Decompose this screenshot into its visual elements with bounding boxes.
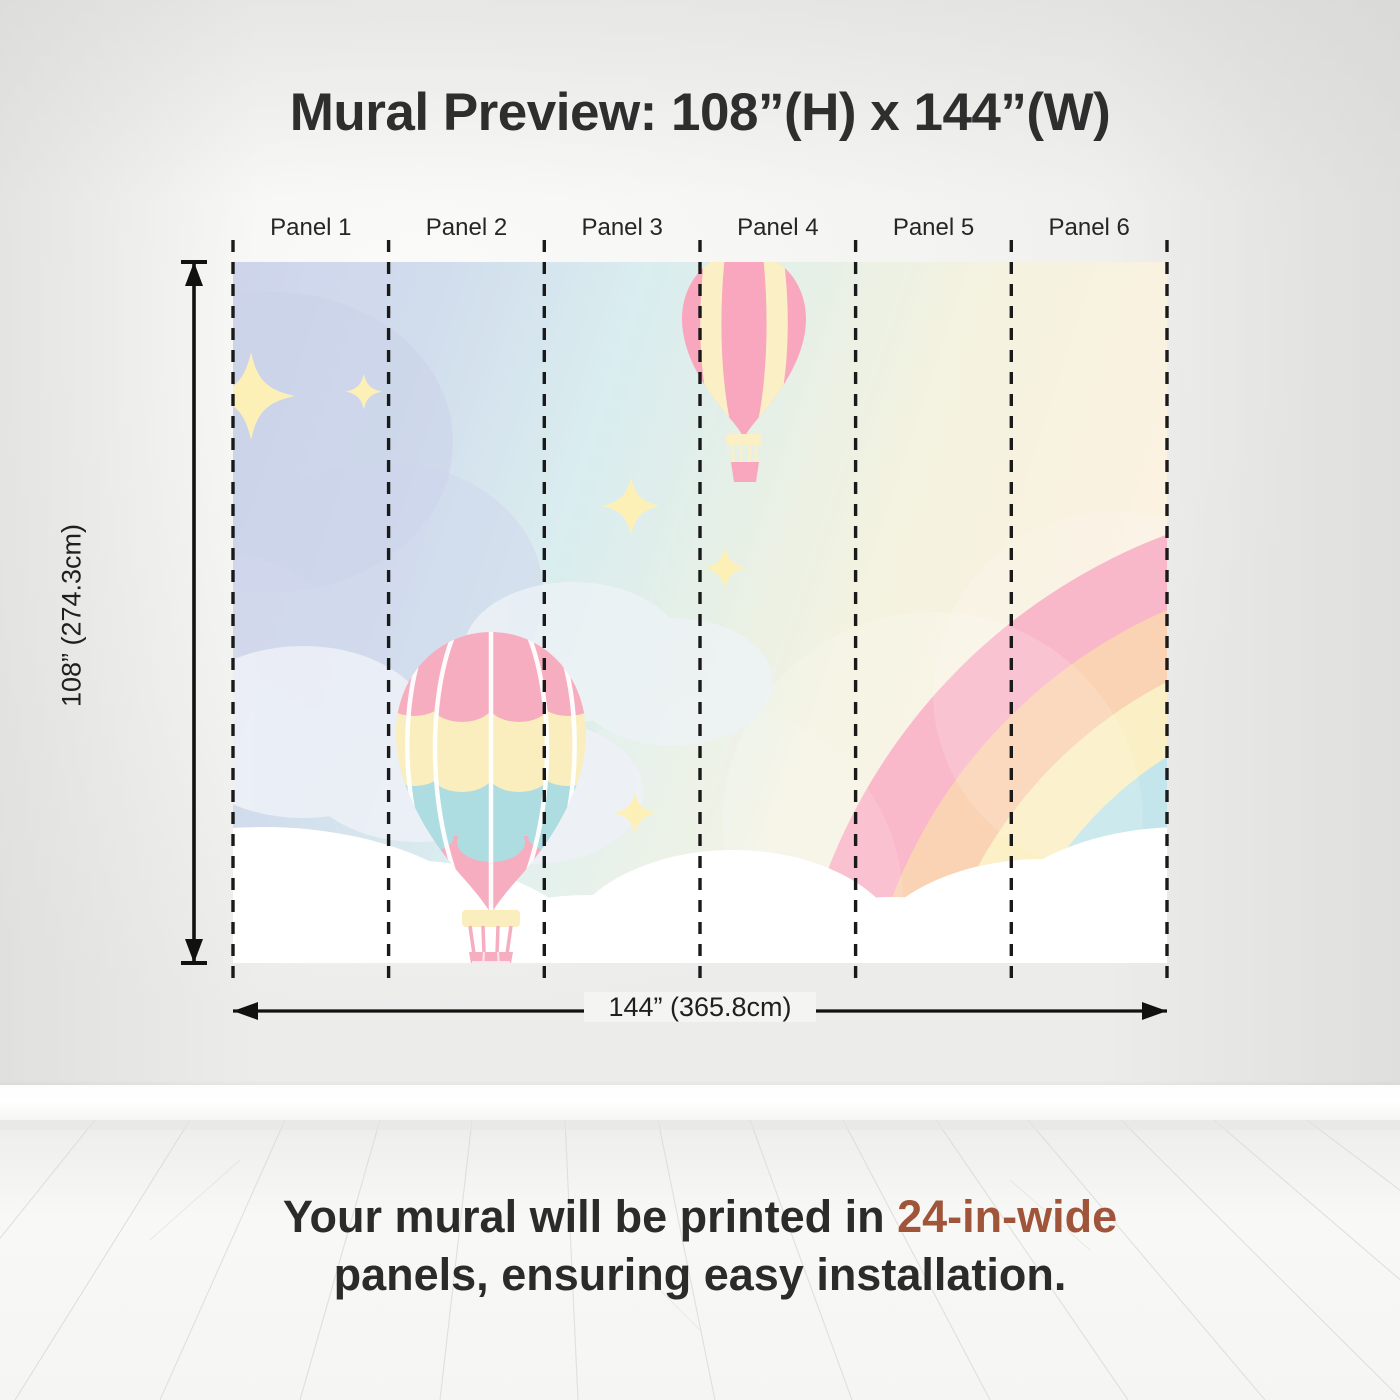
panel-label-2: Panel 2 [389,214,545,248]
panel-label-3: Panel 3 [544,214,700,248]
footer-caption: Your mural will be printed in 24-in-wide… [0,1188,1400,1303]
panel-label-row: Panel 1 Panel 2 Panel 3 Panel 4 Panel 5 … [233,214,1167,248]
panel-label-5: Panel 5 [856,214,1012,248]
page-title: Mural Preview: 108”(H) x 144”(W) [0,82,1400,143]
caption-prefix: Your mural will be printed in [283,1191,897,1242]
width-dimension-text: 144” (365.8cm) [584,992,815,1022]
height-dimension-label: 108” (274.3cm) [57,486,88,746]
caption-accent: 24-in-wide [897,1191,1117,1242]
panel-label-6: Panel 6 [1011,214,1167,248]
caption-line-1: Your mural will be printed in 24-in-wide [0,1188,1400,1246]
mural-svg [233,262,1167,963]
wall-shading-left [0,0,260,1092]
mural-artwork [233,262,1167,963]
caption-line-2: panels, ensuring easy installation. [0,1246,1400,1304]
width-dimension-label: 144” (365.8cm) [0,992,1400,1023]
panel-label-4: Panel 4 [700,214,856,248]
panel-label-1: Panel 1 [233,214,389,248]
baseboard [0,1085,1400,1123]
